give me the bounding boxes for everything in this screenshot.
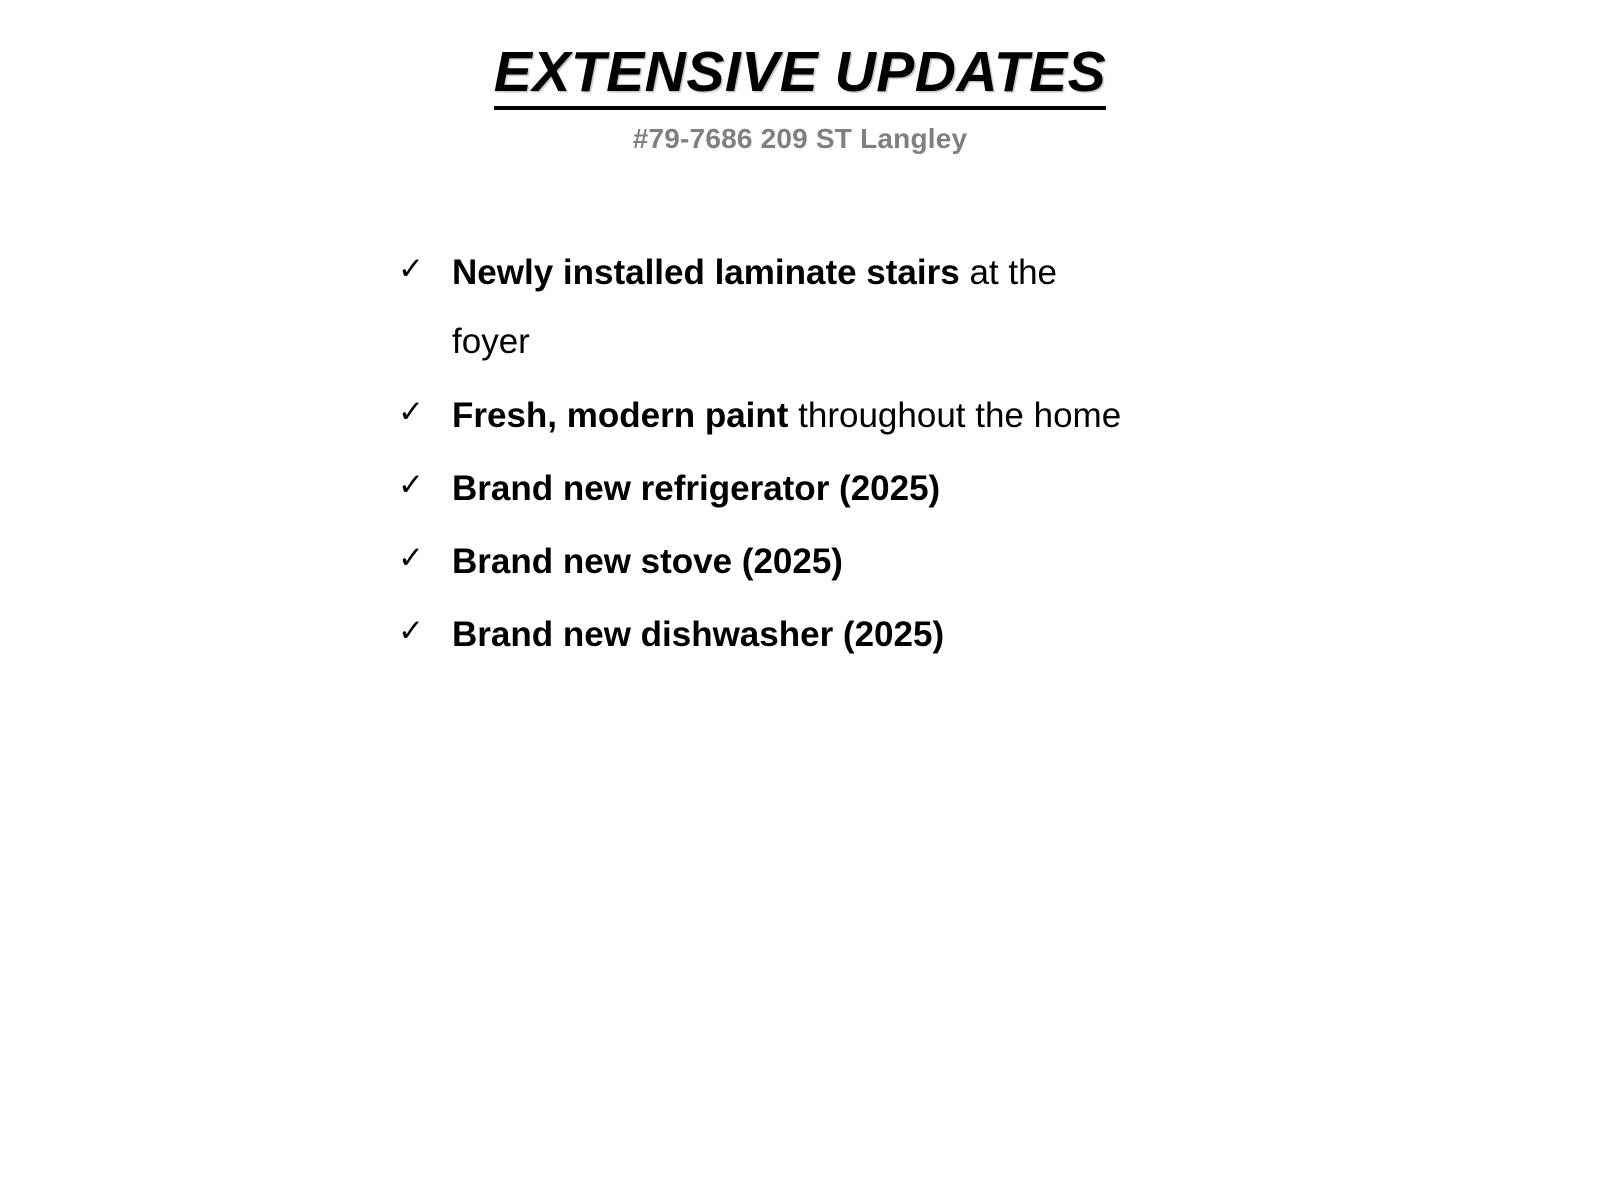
check-icon: ✓ — [398, 238, 432, 299]
title-block: EXTENSIVE UPDATES #79-7686 209 ST Langle… — [0, 42, 1600, 154]
list-item-bold-text: Fresh, modern paint — [452, 396, 788, 435]
list-item-bold-text: Newly installed laminate stairs — [452, 253, 960, 292]
check-icon: ✓ — [398, 381, 432, 442]
list-item-bold-text: Brand new dishwasher (2025) — [452, 615, 944, 654]
list-item: ✓ Brand new refrigerator (2025) — [392, 454, 1122, 523]
check-icon: ✓ — [398, 600, 432, 661]
slide-canvas: EXTENSIVE UPDATES #79-7686 209 ST Langle… — [0, 0, 1600, 1200]
updates-bullet-list: ✓ Newly installed laminate stairs at the… — [392, 238, 1122, 674]
list-item-bold-text: Brand new stove (2025) — [452, 542, 843, 581]
list-item: ✓ Newly installed laminate stairs at the… — [392, 238, 1122, 377]
list-item-bold-text: Brand new refrigerator (2025) — [452, 469, 940, 508]
list-item-normal-text: throughout the home — [788, 396, 1121, 435]
check-icon: ✓ — [398, 527, 432, 588]
list-item: ✓ Brand new stove (2025) — [392, 527, 1122, 596]
slide-subtitle: #79-7686 209 ST Langley — [0, 124, 1600, 155]
list-item: ✓ Fresh, modern paint throughout the hom… — [392, 381, 1122, 450]
page-title: EXTENSIVE UPDATES — [494, 42, 1106, 110]
list-item: ✓ Brand new dishwasher (2025) — [392, 600, 1122, 669]
check-icon: ✓ — [398, 454, 432, 515]
